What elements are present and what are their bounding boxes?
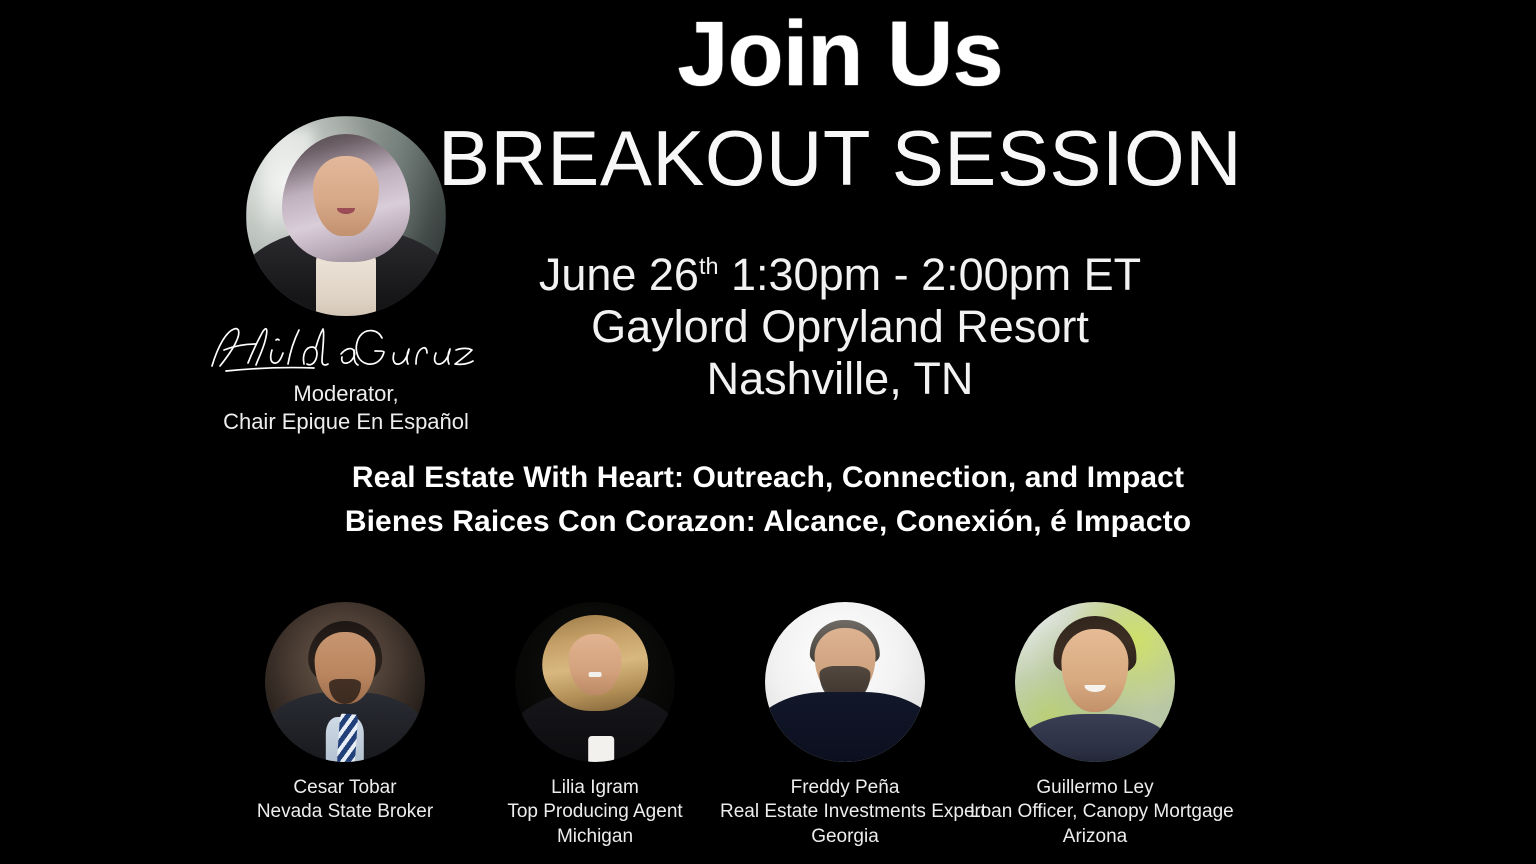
page-title: BREAKOUT SESSION: [430, 116, 1250, 200]
panelist-cesar-tobar: Cesar Tobar Nevada State Broker: [220, 602, 470, 825]
event-time-range: 1:30pm - 2:00pm ET: [731, 249, 1141, 300]
panelist-photo: [515, 602, 675, 762]
event-date-line: June 26th 1:30pm - 2:00pm ET: [430, 252, 1250, 297]
panelist-caption: Guillermo Ley Loan Officer, Canopy Mortg…: [970, 776, 1220, 849]
panelist-role: Nevada State Broker: [220, 800, 470, 824]
event-venue: Gaylord Opryland Resort: [430, 304, 1250, 349]
session-title-spanish: Bienes Raices Con Corazon: Alcance, Cone…: [168, 500, 1368, 544]
panelist-photo: [265, 602, 425, 762]
panelist-caption: Freddy Peña Real Estate Investments Expe…: [720, 776, 970, 849]
moderator-signature: [196, 320, 496, 374]
panelists-row: Cesar Tobar Nevada State Broker Lilia Ig…: [220, 602, 1316, 864]
moderator-photo: [246, 116, 446, 316]
panelist-photo-underlayer: [589, 736, 615, 762]
panelist-photo-face: [569, 634, 622, 695]
panelist-name: Freddy Peña: [720, 776, 970, 800]
session-title-block: Real Estate With Heart: Outreach, Connec…: [168, 456, 1368, 544]
panelist-caption: Cesar Tobar Nevada State Broker: [220, 776, 470, 825]
moderator-photo-face: [313, 156, 379, 236]
join-us-eyebrow: Join Us: [430, 8, 1250, 102]
moderator-role-line-1: Moderator,: [186, 380, 506, 408]
panelist-lilia-igram: Lilia Igram Top Producing Agent Michigan: [470, 602, 720, 849]
panelist-role: Loan Officer, Canopy Mortgage: [970, 800, 1220, 824]
event-date: June 26: [539, 249, 699, 300]
panelist-photo-smile: [589, 672, 602, 676]
date-ordinal-suffix: th: [699, 253, 719, 279]
panelist-photo: [1015, 602, 1175, 762]
panelist-location: Arizona: [970, 825, 1220, 849]
headline-block: Join Us BREAKOUT SESSION: [430, 8, 1250, 200]
panelist-photo-tie: [336, 713, 358, 762]
panelist-role: Real Estate Investments Expert: [720, 800, 970, 824]
session-title-english: Real Estate With Heart: Outreach, Connec…: [168, 456, 1368, 500]
panelist-role: Top Producing Agent: [470, 800, 720, 824]
panelist-photo-body: [765, 692, 925, 762]
event-flyer-slide: Join Us BREAKOUT SESSION June 26th 1:30p…: [0, 0, 1536, 864]
moderator-role: Moderator, Chair Epique En Español: [186, 380, 506, 436]
panelist-location: Georgia: [720, 825, 970, 849]
panelist-name: Lilia Igram: [470, 776, 720, 800]
event-details: June 26th 1:30pm - 2:00pm ET Gaylord Opr…: [430, 252, 1250, 408]
panelist-photo-body: [1018, 714, 1172, 762]
panelist-caption: Lilia Igram Top Producing Agent Michigan: [470, 776, 720, 849]
moderator-block: Moderator, Chair Epique En Español: [186, 116, 506, 436]
panelist-guillermo-ley: Guillermo Ley Loan Officer, Canopy Mortg…: [970, 602, 1220, 849]
panelist-name: Guillermo Ley: [970, 776, 1220, 800]
event-city-state: Nashville, TN: [430, 356, 1250, 401]
panelist-location: Michigan: [470, 825, 720, 849]
panelist-name: Cesar Tobar: [220, 776, 470, 800]
moderator-role-line-2: Chair Epique En Español: [186, 408, 506, 436]
panelist-freddy-pena: Freddy Peña Real Estate Investments Expe…: [720, 602, 970, 849]
panelist-photo: [765, 602, 925, 762]
